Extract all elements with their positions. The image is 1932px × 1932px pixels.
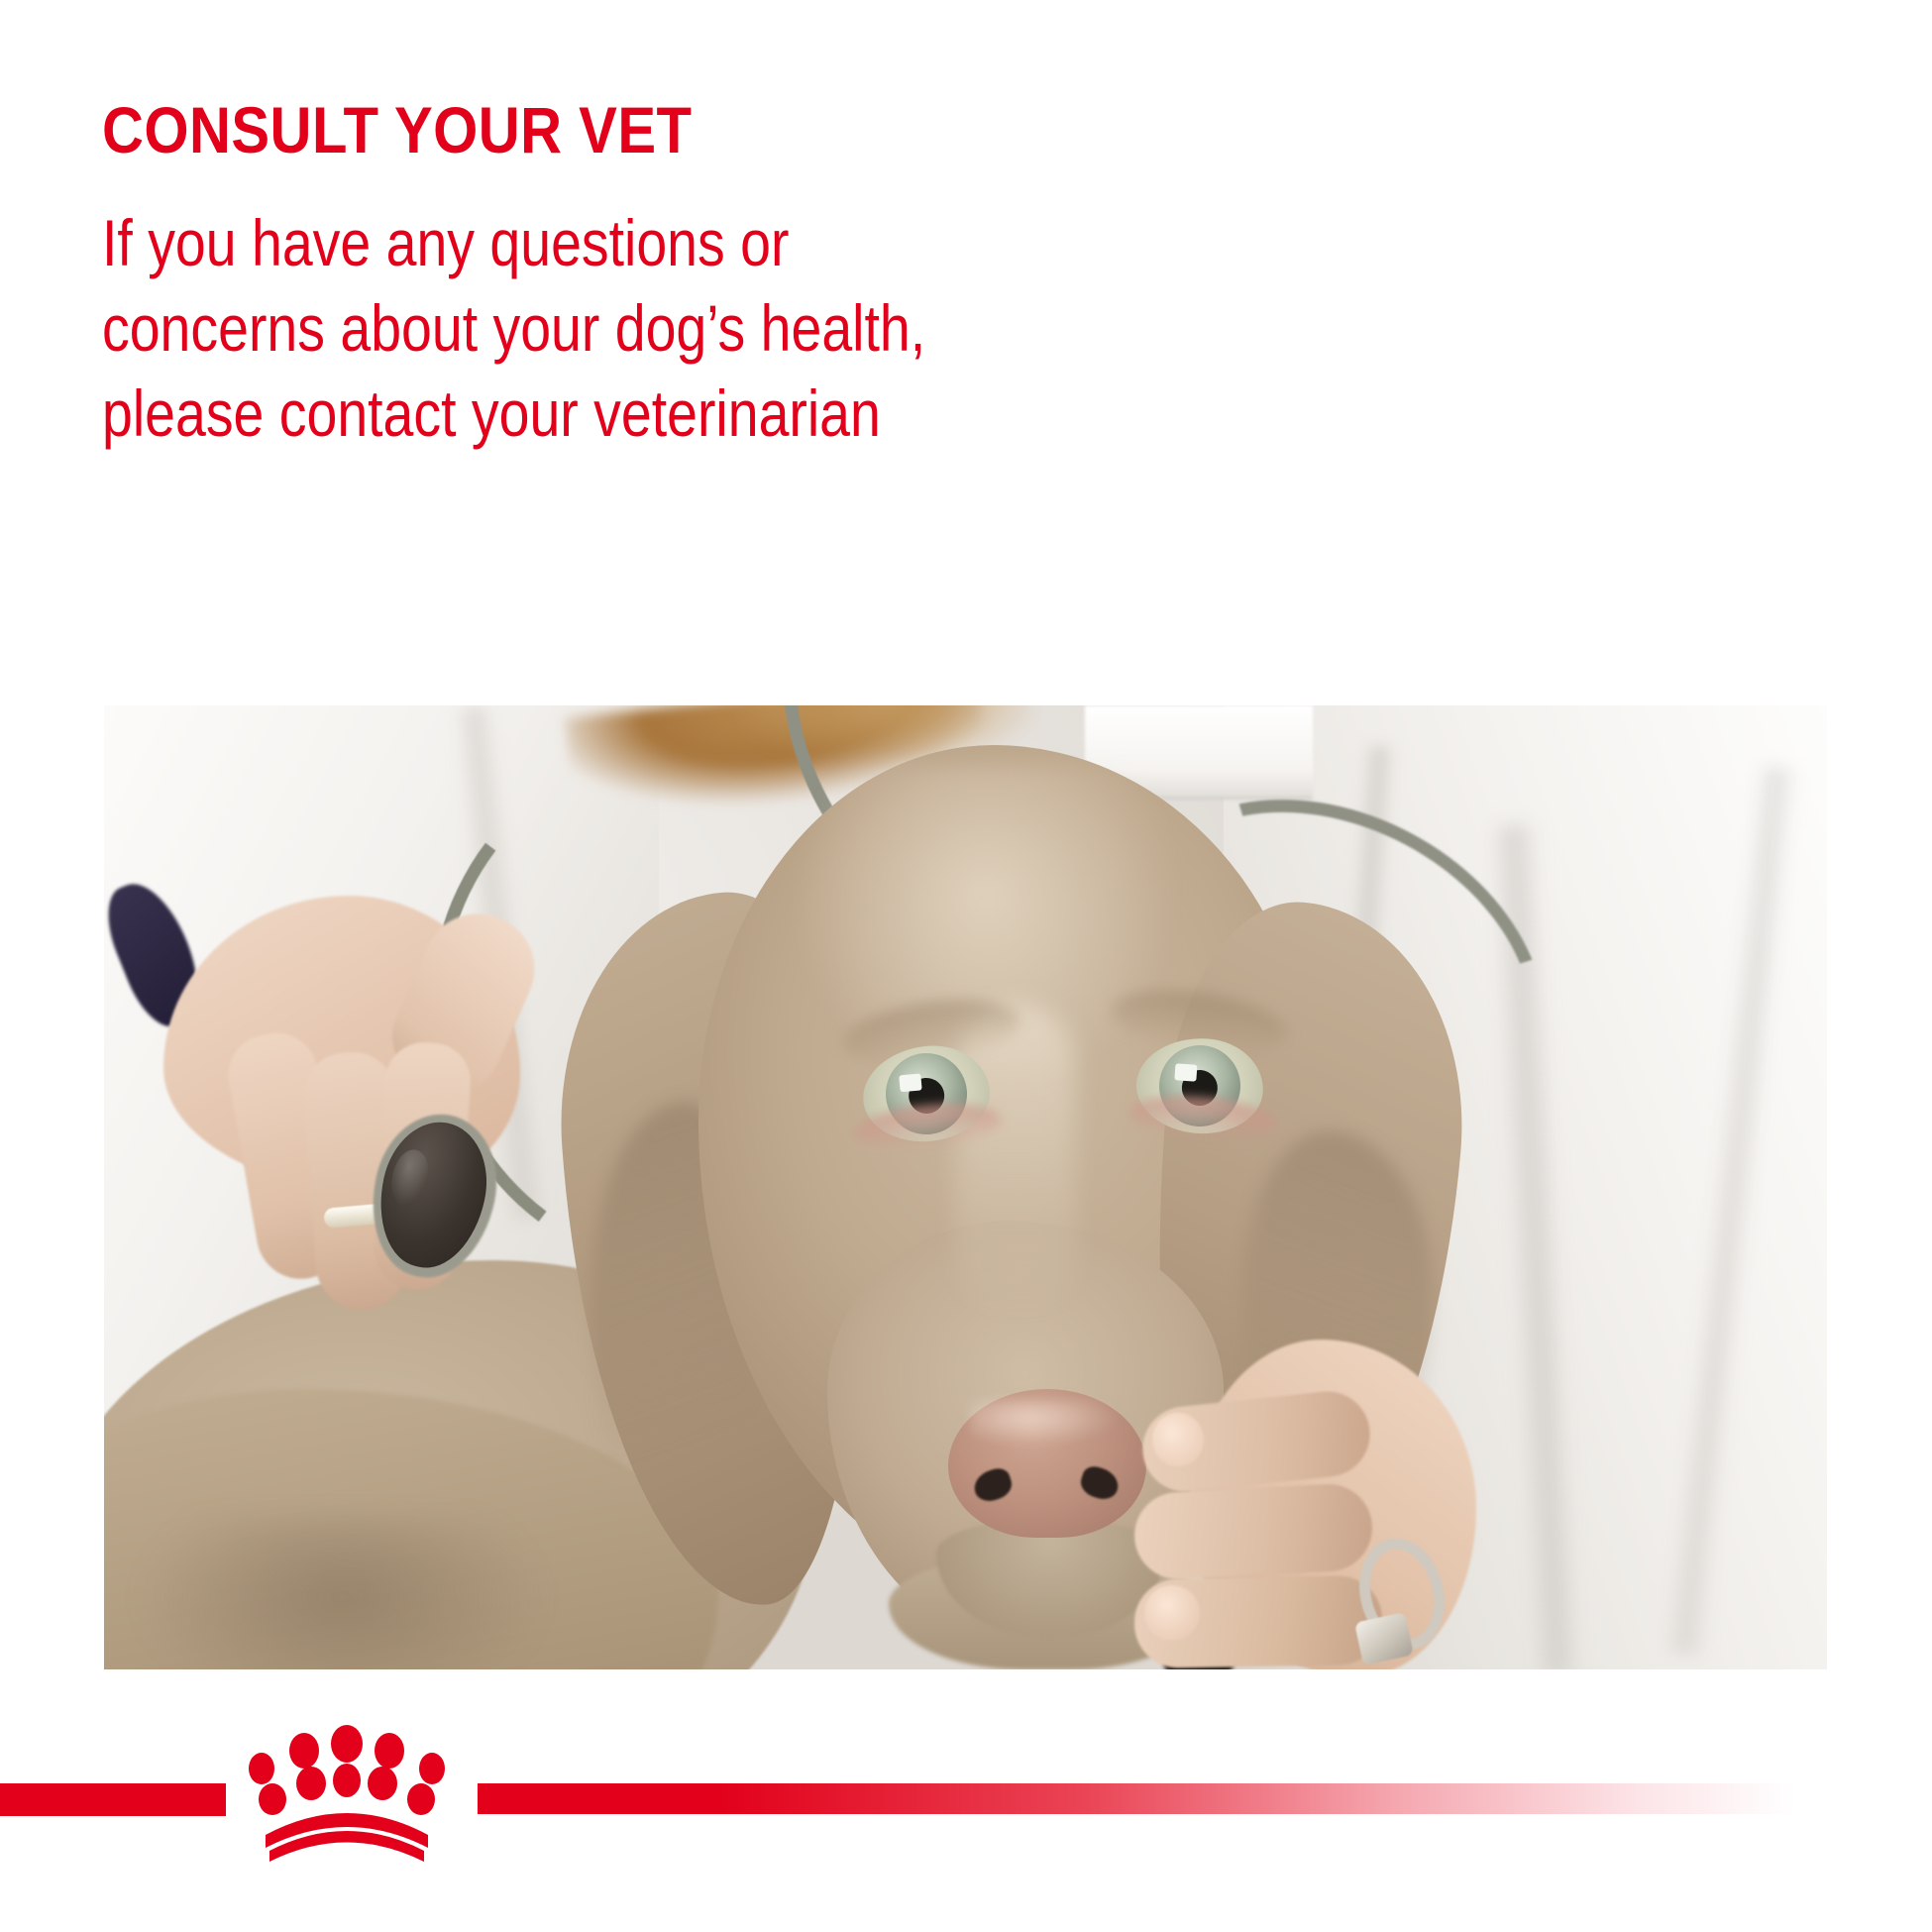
footer-bar-right (478, 1783, 1795, 1814)
text-block: CONSULT YOUR VET If you have any questio… (102, 97, 1390, 457)
dog-body-shadow (134, 1518, 550, 1669)
page-title: CONSULT YOUR VET (102, 97, 1235, 163)
body-line-2: concerns about your dog’s health, (102, 286, 1184, 372)
body-line-1: If you have any questions or (102, 201, 1184, 286)
veterinarian-finger (1132, 1482, 1374, 1581)
footer-bar-left (0, 1783, 226, 1816)
photo-canvas (104, 705, 1827, 1669)
eye-glint (900, 1073, 922, 1092)
consult-your-vet-page: CONSULT YOUR VET If you have any questio… (0, 0, 1932, 1932)
body-line-3: please contact your veterinarian (102, 372, 1184, 457)
royal-canin-crown-icon (248, 1724, 446, 1873)
vet-examination-photo (104, 705, 1827, 1669)
dog-nose-highlight (970, 1399, 1119, 1445)
eye-glint (1175, 1063, 1198, 1081)
fingernail (1144, 1585, 1200, 1641)
